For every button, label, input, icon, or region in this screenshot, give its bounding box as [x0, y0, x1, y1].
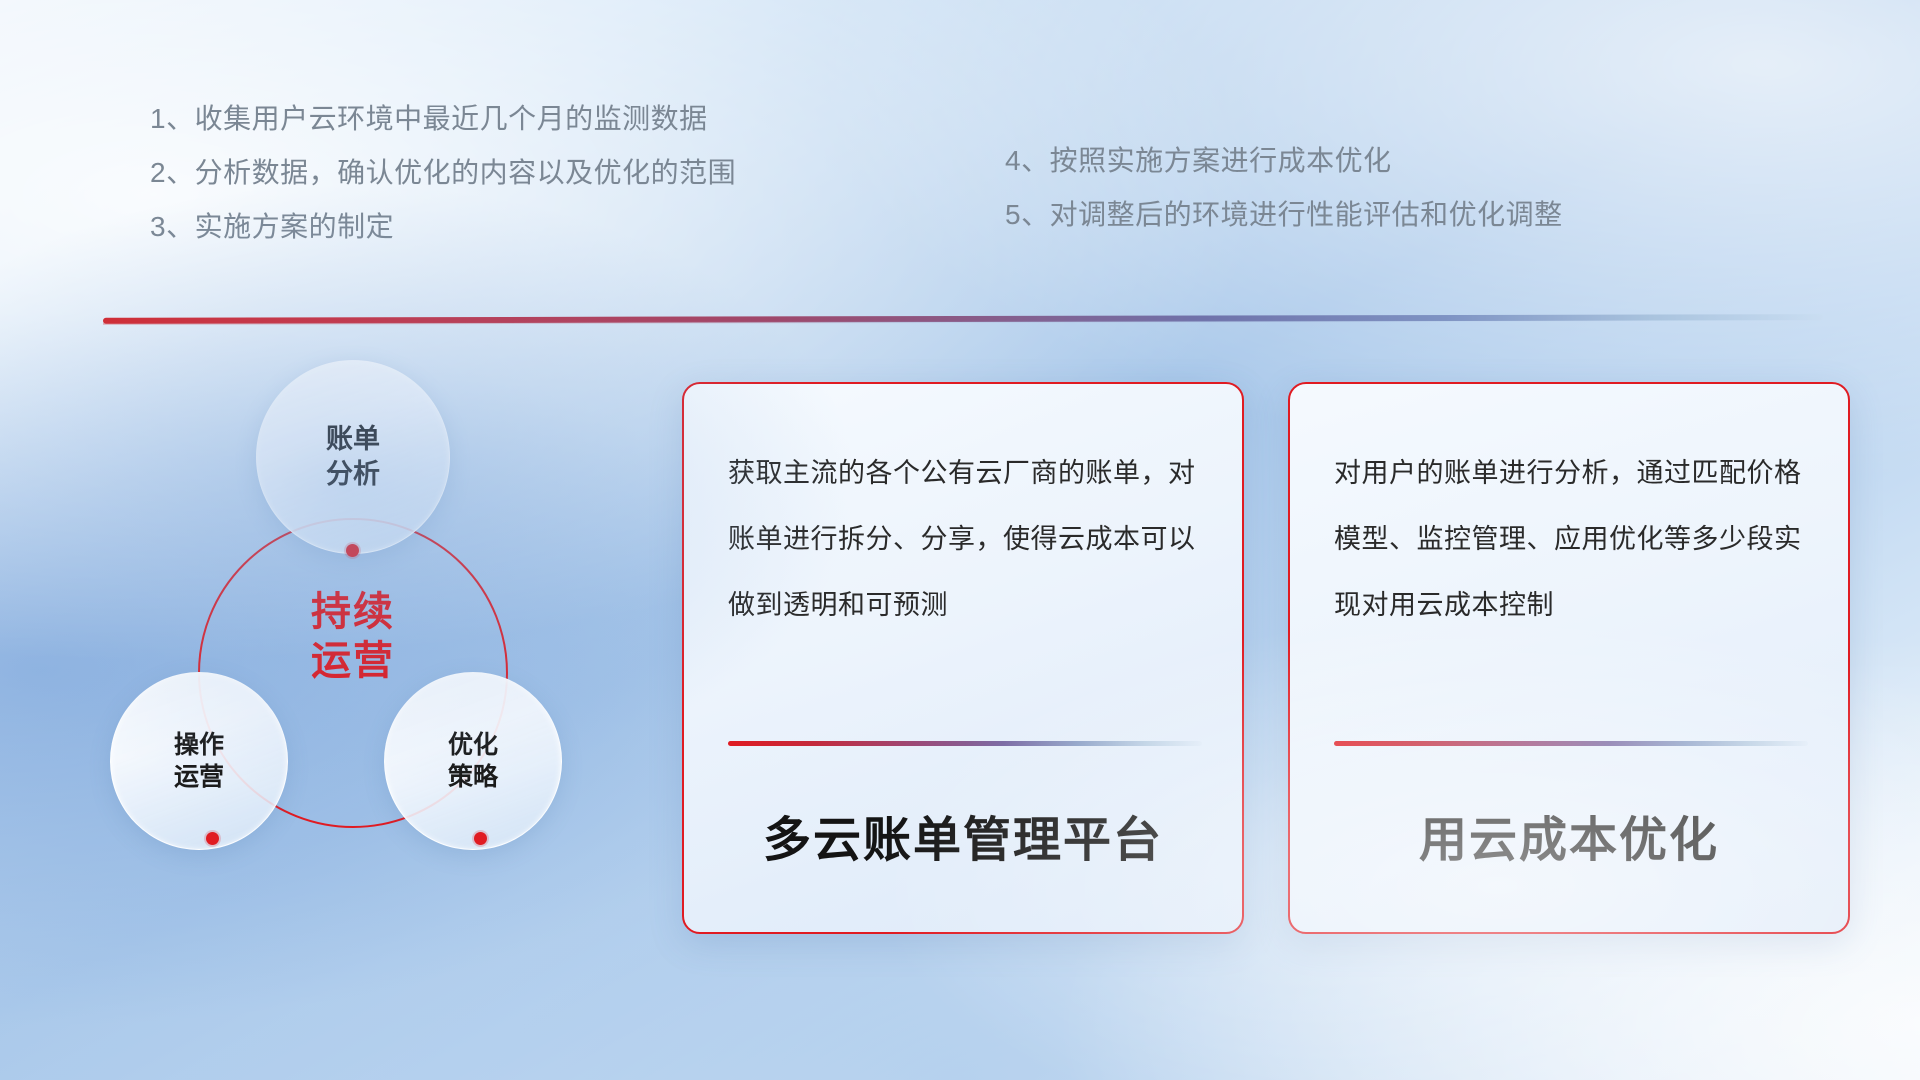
- card-2-title: 用云成本优化: [1290, 800, 1848, 870]
- steps-left-column: 1、收集用户云环境中最近几个月的监测数据 2、分析数据，确认优化的内容以及优化的…: [150, 92, 736, 254]
- bubble-left-line-2: 运营: [174, 761, 224, 794]
- card-multicloud-bill-platform[interactable]: 获取主流的各个公有云厂商的账单，对账单进行拆分、分享，使得云成本可以做到透明和可…: [682, 382, 1244, 934]
- node-dot-top-icon: [346, 544, 359, 557]
- step-item-4: 4、按照实施方案进行成本优化: [1005, 134, 1563, 188]
- center-label-line-1: 持续: [198, 588, 508, 637]
- bubble-right-line-2: 策略: [448, 761, 498, 794]
- node-dot-left-icon: [206, 832, 219, 845]
- card-2-body-text: 对用户的账单进行分析，通过匹配价格模型、监控管理、应用优化等多少段实现对用云成本…: [1334, 440, 1804, 710]
- card-1-title: 多云账单管理平台: [684, 800, 1242, 870]
- process-steps: 1、收集用户云环境中最近几个月的监测数据 2、分析数据，确认优化的内容以及优化的…: [0, 92, 1920, 262]
- bubble-operation[interactable]: 操作 运营: [110, 672, 288, 850]
- bubble-top-line-2: 分析: [326, 457, 380, 492]
- step-item-1: 1、收集用户云环境中最近几个月的监测数据: [150, 92, 736, 146]
- bubble-optimization-strategy[interactable]: 优化 策略: [384, 672, 562, 850]
- diagram-center-label: 持续 运营: [198, 588, 508, 686]
- bubble-top-line-1: 账单: [326, 422, 380, 457]
- bubble-left-line-1: 操作: [174, 729, 224, 762]
- card-1-body-text: 获取主流的各个公有云厂商的账单，对账单进行拆分、分享，使得云成本可以做到透明和可…: [728, 440, 1198, 710]
- bubble-bill-analysis[interactable]: 账单 分析: [256, 360, 450, 554]
- section-divider-rule: [103, 314, 1823, 324]
- card-cloud-cost-optimization[interactable]: 对用户的账单进行分析，通过匹配价格模型、监控管理、应用优化等多少段实现对用云成本…: [1288, 382, 1850, 934]
- bubble-right-line-1: 优化: [448, 729, 498, 762]
- step-item-2: 2、分析数据，确认优化的内容以及优化的范围: [150, 146, 736, 200]
- card-2-accent-rule: [1334, 741, 1808, 746]
- steps-right-column: 4、按照实施方案进行成本优化 5、对调整后的环境进行性能评估和优化调整: [1005, 134, 1563, 242]
- step-item-3: 3、实施方案的制定: [150, 200, 736, 254]
- node-dot-right-icon: [474, 832, 487, 845]
- slide-canvas: 1、收集用户云环境中最近几个月的监测数据 2、分析数据，确认优化的内容以及优化的…: [0, 0, 1920, 1080]
- step-item-5: 5、对调整后的环境进行性能评估和优化调整: [1005, 188, 1563, 242]
- continuous-operation-diagram: 持续 运营 账单 分析 操作 运营 优化 策略: [96, 360, 636, 930]
- card-1-accent-rule: [728, 741, 1202, 746]
